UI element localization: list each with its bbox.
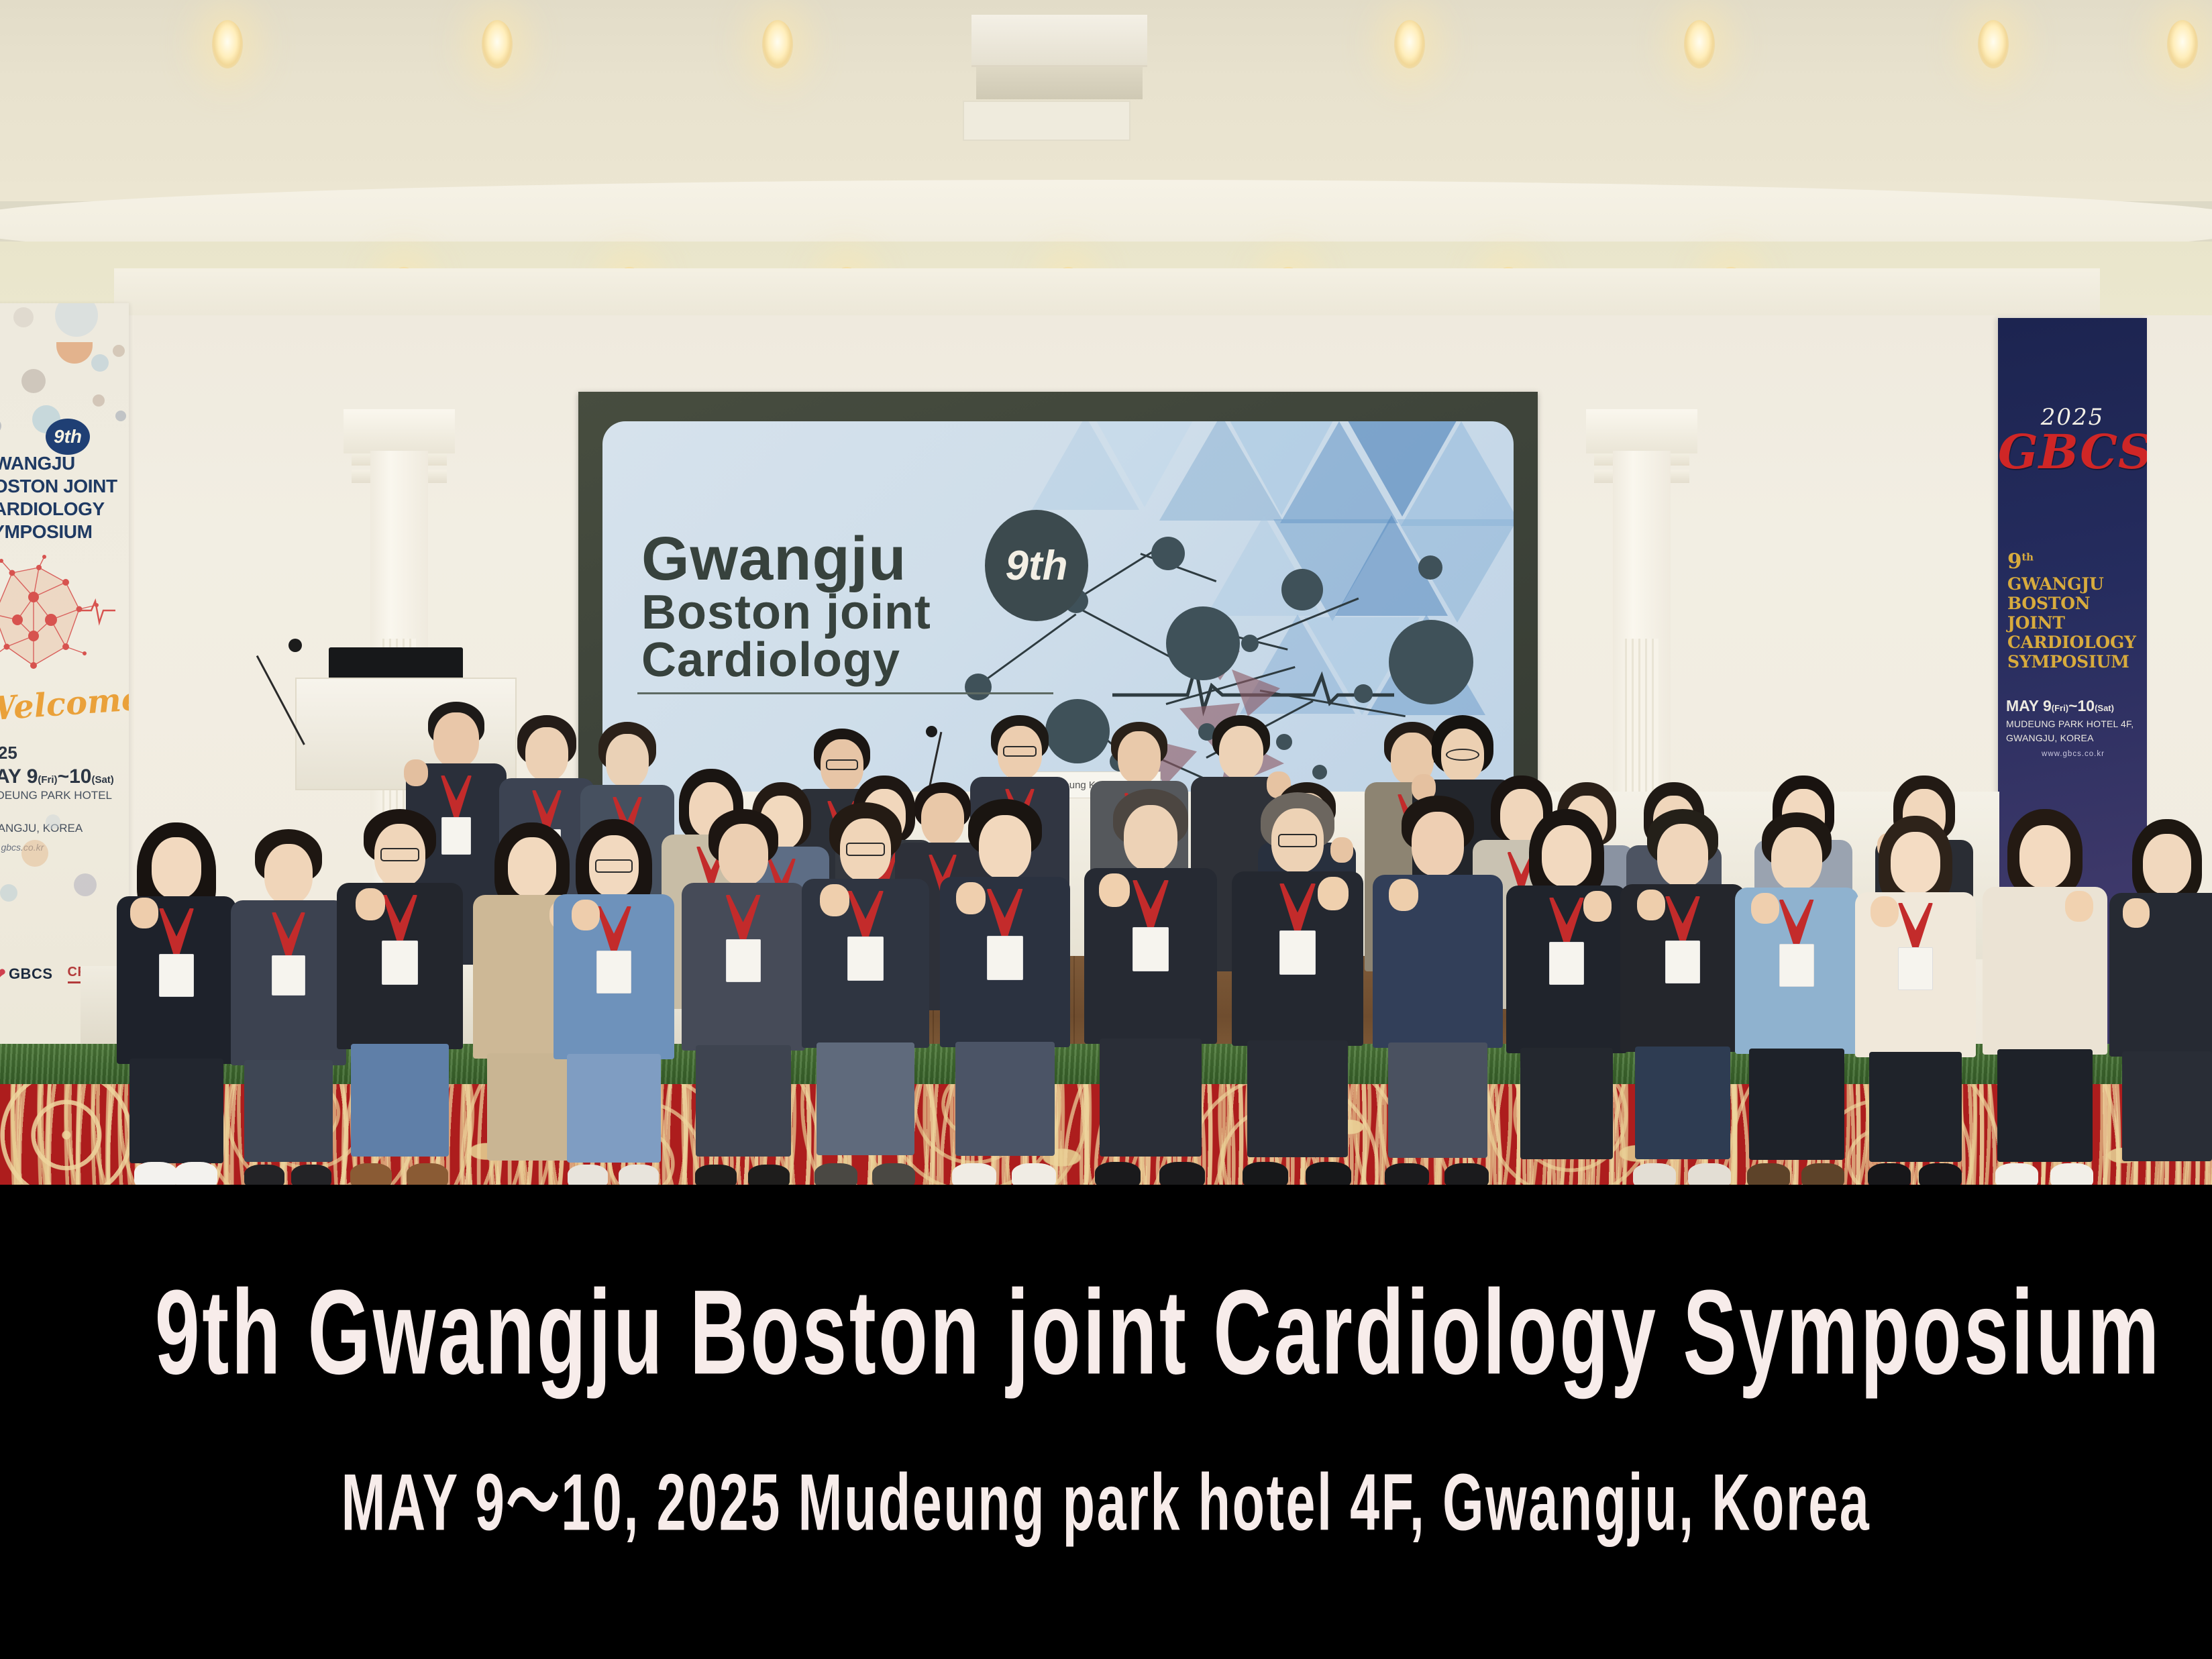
raised-fist <box>1389 879 1418 911</box>
shoe <box>1919 1163 1962 1185</box>
group-photo: Gwangju Boston joint Cardiology 9th 9th <box>0 0 2212 1185</box>
shoe <box>872 1163 915 1185</box>
legs <box>129 1059 223 1163</box>
attendee <box>1979 809 2111 1185</box>
name-badge <box>1779 944 1814 987</box>
legs <box>1100 1038 1202 1157</box>
head <box>1118 731 1161 784</box>
attendee <box>2107 819 2212 1185</box>
head <box>1891 832 1940 894</box>
name-badge <box>1133 927 1169 971</box>
attendee <box>550 819 678 1185</box>
raised-fist <box>130 898 158 928</box>
shoe <box>1159 1162 1205 1185</box>
legs <box>1520 1048 1613 1159</box>
legs <box>1635 1047 1730 1159</box>
head <box>2019 825 2070 888</box>
shoe <box>1095 1162 1141 1185</box>
name-badge <box>596 951 631 994</box>
name-badge <box>1279 930 1316 975</box>
attendee <box>1617 809 1748 1185</box>
shoe <box>2050 1163 2093 1185</box>
attendee <box>798 802 933 1185</box>
attendee-group <box>0 0 2212 1185</box>
raised-fist <box>1751 893 1779 924</box>
raised-fist <box>1637 890 1665 920</box>
head <box>719 824 768 886</box>
head <box>1124 805 1177 871</box>
head <box>152 837 201 899</box>
name-badge <box>987 936 1023 980</box>
raised-fist <box>1318 877 1349 910</box>
shoe <box>619 1165 659 1185</box>
eyeglasses-icon <box>826 759 858 770</box>
head <box>1771 827 1822 890</box>
raised-fist <box>2123 898 2150 928</box>
attendee <box>1503 809 1630 1185</box>
legs <box>351 1044 449 1157</box>
attendee <box>678 809 808 1185</box>
head <box>1412 812 1464 876</box>
screenshot-root: Gwangju Boston joint Cardiology 9th 9th <box>0 0 2212 1659</box>
legs <box>244 1060 333 1162</box>
shoe <box>1801 1163 1844 1185</box>
legs <box>1869 1052 1962 1162</box>
shoe <box>1747 1163 1790 1185</box>
raised-fist <box>956 882 986 914</box>
legs <box>1247 1040 1348 1157</box>
raised-fist <box>404 759 428 786</box>
raised-fist <box>2065 891 2093 922</box>
shoe <box>1868 1163 1911 1185</box>
head <box>525 727 568 781</box>
shoe <box>350 1163 392 1185</box>
attendee <box>1369 796 1506 1185</box>
shoe <box>1995 1163 2038 1185</box>
shoe <box>1243 1162 1288 1185</box>
head <box>2143 834 2191 894</box>
caption-bar: 9th Gwangju Boston joint Cardiology Symp… <box>0 1185 2212 1659</box>
shoe <box>1012 1163 1056 1185</box>
raised-fist <box>1099 873 1130 907</box>
name-badge <box>1665 941 1700 983</box>
shoe <box>1444 1163 1489 1185</box>
legs <box>1997 1049 2093 1162</box>
shoe <box>814 1163 857 1185</box>
attendee <box>1080 789 1221 1185</box>
eyeglasses-icon <box>1446 749 1479 761</box>
attendee <box>1228 792 1367 1185</box>
raised-fist <box>356 888 385 920</box>
eyeglasses-icon <box>380 848 419 861</box>
eyeglasses-icon <box>595 859 633 873</box>
attendee <box>228 829 349 1185</box>
shoe <box>291 1165 331 1185</box>
head <box>433 712 479 767</box>
legs <box>696 1045 791 1157</box>
caption-title: 9th Gwangju Boston joint Cardiology Symp… <box>155 1272 2057 1392</box>
attendee <box>333 809 467 1185</box>
legs <box>2122 1051 2212 1161</box>
eyeglasses-icon <box>1278 834 1317 847</box>
name-badge <box>382 941 418 985</box>
attendee <box>1852 816 1979 1185</box>
raised-fist <box>1871 896 1899 927</box>
eyeglasses-icon <box>846 843 885 856</box>
eyeglasses-icon <box>1003 746 1037 757</box>
raised-fist <box>820 884 849 916</box>
legs <box>817 1042 914 1155</box>
name-badge <box>726 939 761 982</box>
legs <box>1749 1049 1844 1160</box>
shoe <box>244 1165 284 1185</box>
shoe <box>1385 1163 1429 1185</box>
shoe <box>568 1165 608 1185</box>
shoe <box>174 1162 217 1185</box>
legs <box>567 1054 661 1163</box>
name-badge <box>847 936 884 981</box>
legs <box>955 1042 1055 1156</box>
head <box>264 844 313 904</box>
raised-fist <box>572 900 600 930</box>
attendee <box>1731 812 1862 1185</box>
legs <box>1388 1042 1487 1158</box>
shoe <box>407 1163 448 1185</box>
name-badge <box>272 955 305 996</box>
shoe <box>952 1163 996 1185</box>
head <box>1219 726 1263 780</box>
name-badge <box>1549 942 1584 985</box>
shoe <box>695 1165 737 1185</box>
head <box>508 837 556 898</box>
raised-fist <box>1583 891 1612 922</box>
attendee <box>936 799 1073 1185</box>
head <box>979 815 1031 879</box>
shoe <box>1306 1162 1351 1185</box>
shoe <box>1633 1163 1676 1185</box>
name-badge <box>1898 947 1933 990</box>
shoe <box>134 1162 177 1185</box>
head <box>1542 825 1591 887</box>
shoe <box>1688 1163 1731 1185</box>
shoe <box>748 1165 790 1185</box>
name-badge <box>159 954 194 997</box>
attendee <box>113 822 240 1185</box>
caption-subtitle: MAY 9～10, 2025 Mudeung park hotel 4F, Gw… <box>155 1462 2057 1543</box>
head <box>606 734 649 788</box>
head <box>1657 824 1708 887</box>
